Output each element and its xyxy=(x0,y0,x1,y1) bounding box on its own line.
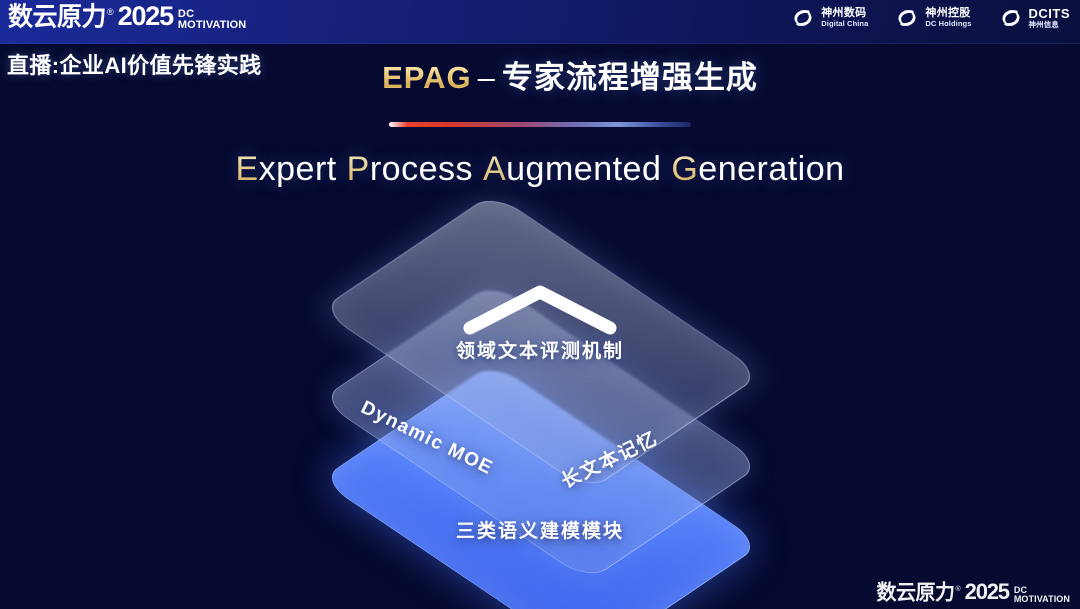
subtitle-cap-a: A xyxy=(483,150,506,188)
partner-text-digital-china: 神州数码 Digital China xyxy=(821,8,868,28)
subtitle-rest-augmented: ugmented xyxy=(506,150,661,188)
partner-name-en: DC Holdings xyxy=(925,20,971,28)
brand-year: 2025 xyxy=(118,3,173,30)
diagram-label-top: 领域文本评测机制 xyxy=(300,336,780,363)
partner-text-dcits: DCITS 神州信息 xyxy=(1029,7,1071,29)
brand-year: 2025 xyxy=(965,581,1009,603)
diagram-label-bottom: 三类语义建模模块 xyxy=(300,516,780,543)
brand-lockup-footer: 数云原力 ® 2025 DC MOTIVATION xyxy=(877,581,1071,603)
partner-logo-digital-china: 神州数码 Digital China xyxy=(790,5,868,31)
presentation-slide: 数云原力 ® 2025 DC MOTIVATION 直播:企业AI价值先锋实践 … xyxy=(0,0,1080,609)
subtitle-rest-process: rocess xyxy=(370,150,473,188)
gradient-divider xyxy=(389,122,691,127)
brand-dc-motivation: DC MOTIVATION xyxy=(1014,586,1070,604)
subtitle-cap-g: G xyxy=(671,150,698,188)
title-dash: – xyxy=(478,60,496,95)
partner-name-cn: DCITS xyxy=(1029,7,1071,21)
subtitle-cap-e: E xyxy=(235,150,258,188)
partner-logos: 神州数码 Digital China 神州控股 DC Holdings DCIT… xyxy=(790,5,1070,31)
subtitle-rest-expert: xpert xyxy=(259,150,337,188)
title-acronym: EPAG xyxy=(382,60,472,95)
layered-architecture-diagram: 领域文本评测机制 Dynamic MOE 长文本记忆 三类语义建模模块 xyxy=(300,228,780,558)
brand-name-cn: 数云原力 xyxy=(8,4,106,30)
partner-logo-dcits: DCITS 神州信息 xyxy=(998,5,1071,31)
page-title: EPAG–专家流程增强生成 xyxy=(0,52,1080,97)
partner-text-dc-holdings: 神州控股 DC Holdings xyxy=(925,8,971,28)
chevron-up-icon xyxy=(460,280,620,338)
brand-dc-motivation: DC MOTIVATION xyxy=(178,9,246,31)
brand-motivation-text: MOTIVATION xyxy=(178,20,246,31)
partner-name-en: 神州信息 xyxy=(1029,21,1071,29)
brand-lockup-header: 数云原力 ® 2025 DC MOTIVATION xyxy=(8,3,246,30)
page-subtitle: Expert Process Augmented Generation xyxy=(0,150,1080,189)
partner-name-en: Digital China xyxy=(821,20,868,28)
brand-registered-mark: ® xyxy=(107,8,114,17)
partner-logo-dc-holdings: 神州控股 DC Holdings xyxy=(894,5,971,31)
title-chinese: 专家流程增强生成 xyxy=(502,60,758,95)
swirl-logo-icon xyxy=(790,5,816,31)
brand-name-cn: 数云原力 xyxy=(877,583,955,604)
subtitle-cap-p: P xyxy=(347,150,370,188)
swirl-logo-icon xyxy=(998,5,1024,31)
brand-motivation-text: MOTIVATION xyxy=(1014,595,1070,604)
brand-registered-mark: ® xyxy=(956,586,961,593)
subtitle-rest-generation: eneration xyxy=(698,150,844,188)
swirl-logo-icon xyxy=(894,5,920,31)
